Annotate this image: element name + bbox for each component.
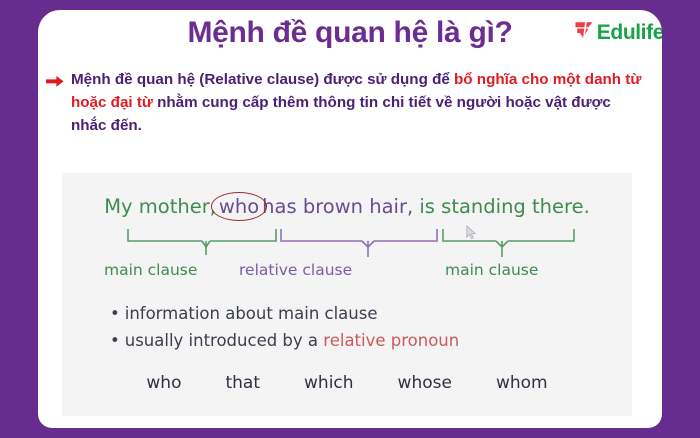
bullet-dot-icon: • [110,331,120,350]
grammar-diagram-panel: My mother,whohas brown hair, is standing… [62,173,632,416]
content-card: Mệnh đề quan hệ là gì? Edulife [38,10,662,428]
label-relative-clause: relative clause [239,261,352,279]
pronoun-which: which [304,373,354,393]
intro-paragraph: Mệnh đề quan hệ (Relative clause) được s… [38,68,662,137]
pronoun-that: that [225,373,260,393]
pronoun-whom: whom [496,373,548,393]
clause-notes-list: •information about main clause •usually … [110,301,610,354]
page-title: Mệnh đề quan hệ là gì? [38,16,662,50]
intro-text: Mệnh đề quan hệ (Relative clause) được s… [71,68,642,137]
label-main-clause-1: main clause [104,261,197,279]
clause-labels: main clause relative clause main clause [62,261,632,283]
pronoun-whose: whose [398,373,452,393]
intro-segment-1: Mệnh đề quan hệ (Relative clause) được s… [71,71,454,88]
note-text-1: information about main clause [125,304,378,323]
slide-frame: Mệnh đề quan hệ là gì? Edulife [0,0,700,438]
sentence-relative-clause: has brown hair, [262,195,413,218]
example-sentence: My mother,whohas brown hair, is standing… [62,195,632,218]
sentence-main-clause-2: is standing there. [419,195,589,218]
note-text-2: usually introduced by a [125,331,324,350]
clause-braces [62,225,632,263]
brace-relative-clause [281,229,437,257]
mouse-cursor-icon [466,225,477,245]
label-main-clause-2: main clause [445,261,538,279]
relative-pronoun-list: who that which whose whom [62,373,632,393]
edulife-logo: Edulife [573,19,662,46]
note-accent-relative-pronoun: relative pronoun [323,331,459,350]
edulife-triangle-f-mark [573,19,595,46]
brace-main-clause-2 [443,229,574,257]
circled-word-text: who [219,195,259,218]
bullet-dot-icon: • [110,304,120,323]
intro-segment-3: nhằm cung cấp thêm thông tin chi tiết về… [71,94,611,134]
right-arrow-icon [46,75,64,93]
brace-main-clause-1 [128,229,276,255]
list-item: •usually introduced by a relative pronou… [110,328,610,355]
list-item: •information about main clause [110,301,610,328]
circled-relative-pronoun: who [216,195,262,218]
logo-wordmark: Edulife [597,21,662,45]
header: Mệnh đề quan hệ là gì? Edulife [38,10,662,66]
pronoun-who: who [146,373,181,393]
sentence-main-clause-1: My mother, [104,195,216,218]
